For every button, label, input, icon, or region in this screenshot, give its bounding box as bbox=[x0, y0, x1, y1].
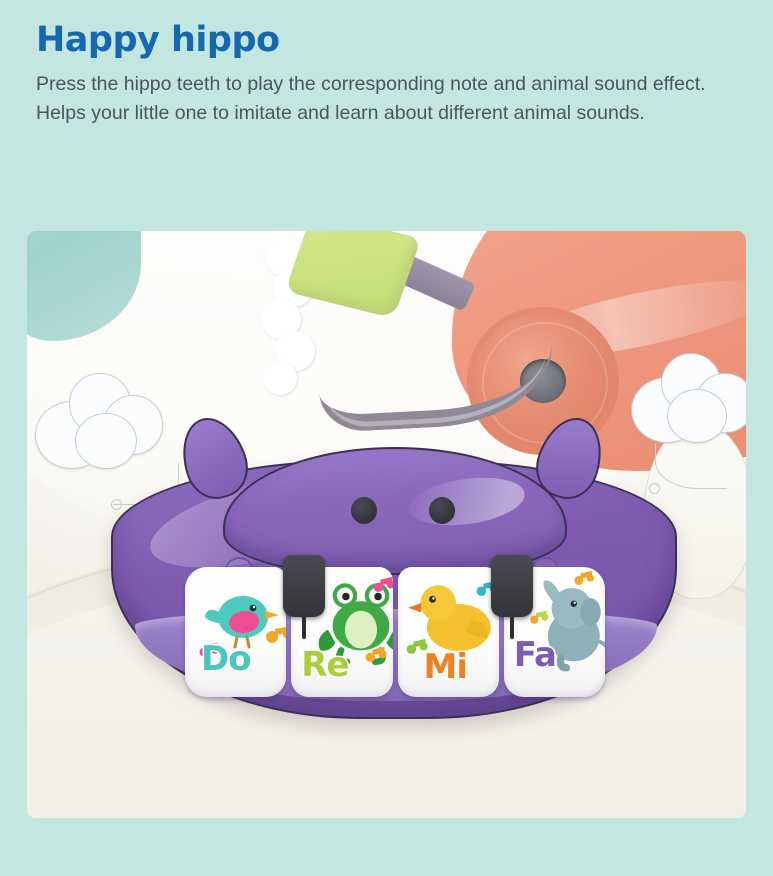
product-feature-page: Happy hippo Press the hippo teeth to pla… bbox=[0, 0, 773, 876]
piano-key-fa-label: Fa bbox=[514, 635, 556, 675]
page-description: Press the hippo teeth to play the corres… bbox=[36, 70, 726, 127]
hippo-piano-photo: Do bbox=[27, 231, 746, 818]
piano-black-key-2[interactable] bbox=[491, 555, 533, 617]
piano-key-do-label: Do bbox=[201, 639, 251, 679]
piano-key-mi[interactable]: Mi bbox=[398, 567, 499, 697]
hippo-piano-keyboard[interactable]: Do bbox=[111, 409, 677, 719]
piano-key-re-label: Re bbox=[301, 645, 348, 685]
page-title: Happy hippo bbox=[36, 20, 736, 60]
white-keys-row: Do bbox=[185, 567, 605, 697]
feature-text-block: Happy hippo Press the hippo teeth to pla… bbox=[36, 20, 736, 127]
piano-key-do[interactable]: Do bbox=[185, 567, 286, 697]
hippo-head-gloss bbox=[406, 471, 527, 531]
piano-black-key-1[interactable] bbox=[283, 555, 325, 617]
piano-key-mi-label: Mi bbox=[424, 647, 468, 687]
hippo-eye-left bbox=[351, 497, 377, 524]
hippo-eye-right bbox=[429, 497, 455, 524]
